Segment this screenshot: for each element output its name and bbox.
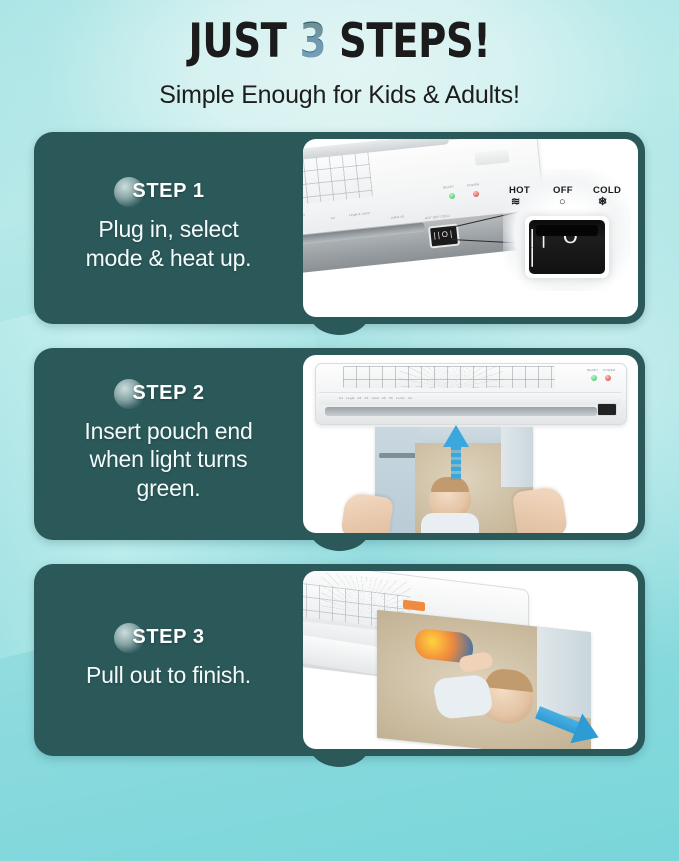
- heat-waves-icon: ≋: [511, 197, 520, 208]
- step-1-label: STEP 1: [132, 180, 204, 202]
- switch-mode-off-label: OFF: [553, 185, 573, 196]
- baby-body: [431, 674, 494, 720]
- machine-switch: ||O|: [428, 223, 460, 248]
- step-2-label: STEP 2: [132, 382, 204, 404]
- step-3-label-row: STEP 3: [132, 626, 204, 649]
- switch-mode-hot-label: HOT: [509, 185, 530, 196]
- rocker-switch: || O |: [525, 216, 609, 278]
- step-3-text: STEP 3 Pull out to finish.: [34, 616, 303, 703]
- step-2-label-row: STEP 2: [132, 382, 204, 405]
- laminator-fan-lines: [399, 366, 503, 388]
- hand-right-icon: [512, 486, 568, 533]
- snowflake-icon: ❄: [598, 197, 607, 208]
- circle-icon: ○: [559, 197, 566, 208]
- ready-led-icon: [591, 375, 597, 381]
- step-1-description: Plug in, select mode & heat up.: [42, 215, 295, 271]
- step-2-text: STEP 2 Insert pouch end when light turns…: [34, 372, 303, 515]
- insert-direction-arrow-icon: [443, 425, 469, 481]
- baby-body: [421, 513, 479, 533]
- power-label: POWER: [603, 368, 615, 372]
- step-2-description: Insert pouch end when light turns green.: [42, 417, 295, 501]
- laminator-feed-slot: [325, 407, 597, 416]
- step-1-text: STEP 1 Plug in, select mode & heat up.: [34, 170, 303, 285]
- photo-background-shelf: [379, 453, 417, 458]
- size-label-row: A4 Legal A5 A6 Card A6 A5 Letter A4: [339, 396, 412, 400]
- ready-label: READY: [587, 368, 598, 372]
- header: JUST 3 STEPS! Simple Enough for Kids & A…: [0, 0, 679, 110]
- step-card-1: STEP 1 Plug in, select mode & heat up. R…: [34, 132, 645, 324]
- step-card-3: STEP 3 Pull out to finish.: [34, 564, 645, 756]
- size-label-a4-2: A4: [331, 216, 335, 220]
- rocker-switch-face: || O |: [529, 220, 605, 274]
- machine-switch: [597, 403, 617, 416]
- title-number: 3: [300, 14, 326, 69]
- ready-led-icon: [449, 193, 455, 199]
- size-label-a4-1: A4: [303, 213, 305, 217]
- steps-list: STEP 1 Plug in, select mode & heat up. R…: [0, 132, 679, 756]
- step-1-photo: READY POWER A4 A4 Legal & Letter matte A…: [303, 139, 638, 317]
- switch-callout: HOT ≋ OFF ○ COLD ❄ || O |: [503, 169, 631, 291]
- switch-mode-cold-label: COLD: [593, 185, 621, 196]
- power-led-icon: [605, 375, 611, 381]
- step-2-photo: READY POWER A4 Legal A5 A6 Card A6 A5 Le…: [303, 355, 638, 533]
- step-3-description: Pull out to finish.: [42, 661, 295, 689]
- step-3-photo: [303, 571, 638, 749]
- rocker-switch-marks: || O |: [529, 228, 605, 266]
- step-card-2: STEP 2 Insert pouch end when light turns…: [34, 348, 645, 540]
- page-subtitle: Simple Enough for Kids & Adults!: [0, 81, 679, 110]
- power-led-icon: [473, 191, 479, 197]
- hand-left-icon: [340, 492, 394, 533]
- step-3-label: STEP 3: [132, 626, 204, 648]
- infographic-page: JUST 3 STEPS! Simple Enough for Kids & A…: [0, 0, 679, 861]
- page-title: JUST 3 STEPS!: [61, 18, 618, 65]
- photo-background-curtain: [501, 427, 533, 487]
- title-prefix: JUST: [189, 14, 300, 69]
- title-suffix: STEPS!: [326, 14, 491, 69]
- step-1-label-row: STEP 1: [132, 180, 204, 203]
